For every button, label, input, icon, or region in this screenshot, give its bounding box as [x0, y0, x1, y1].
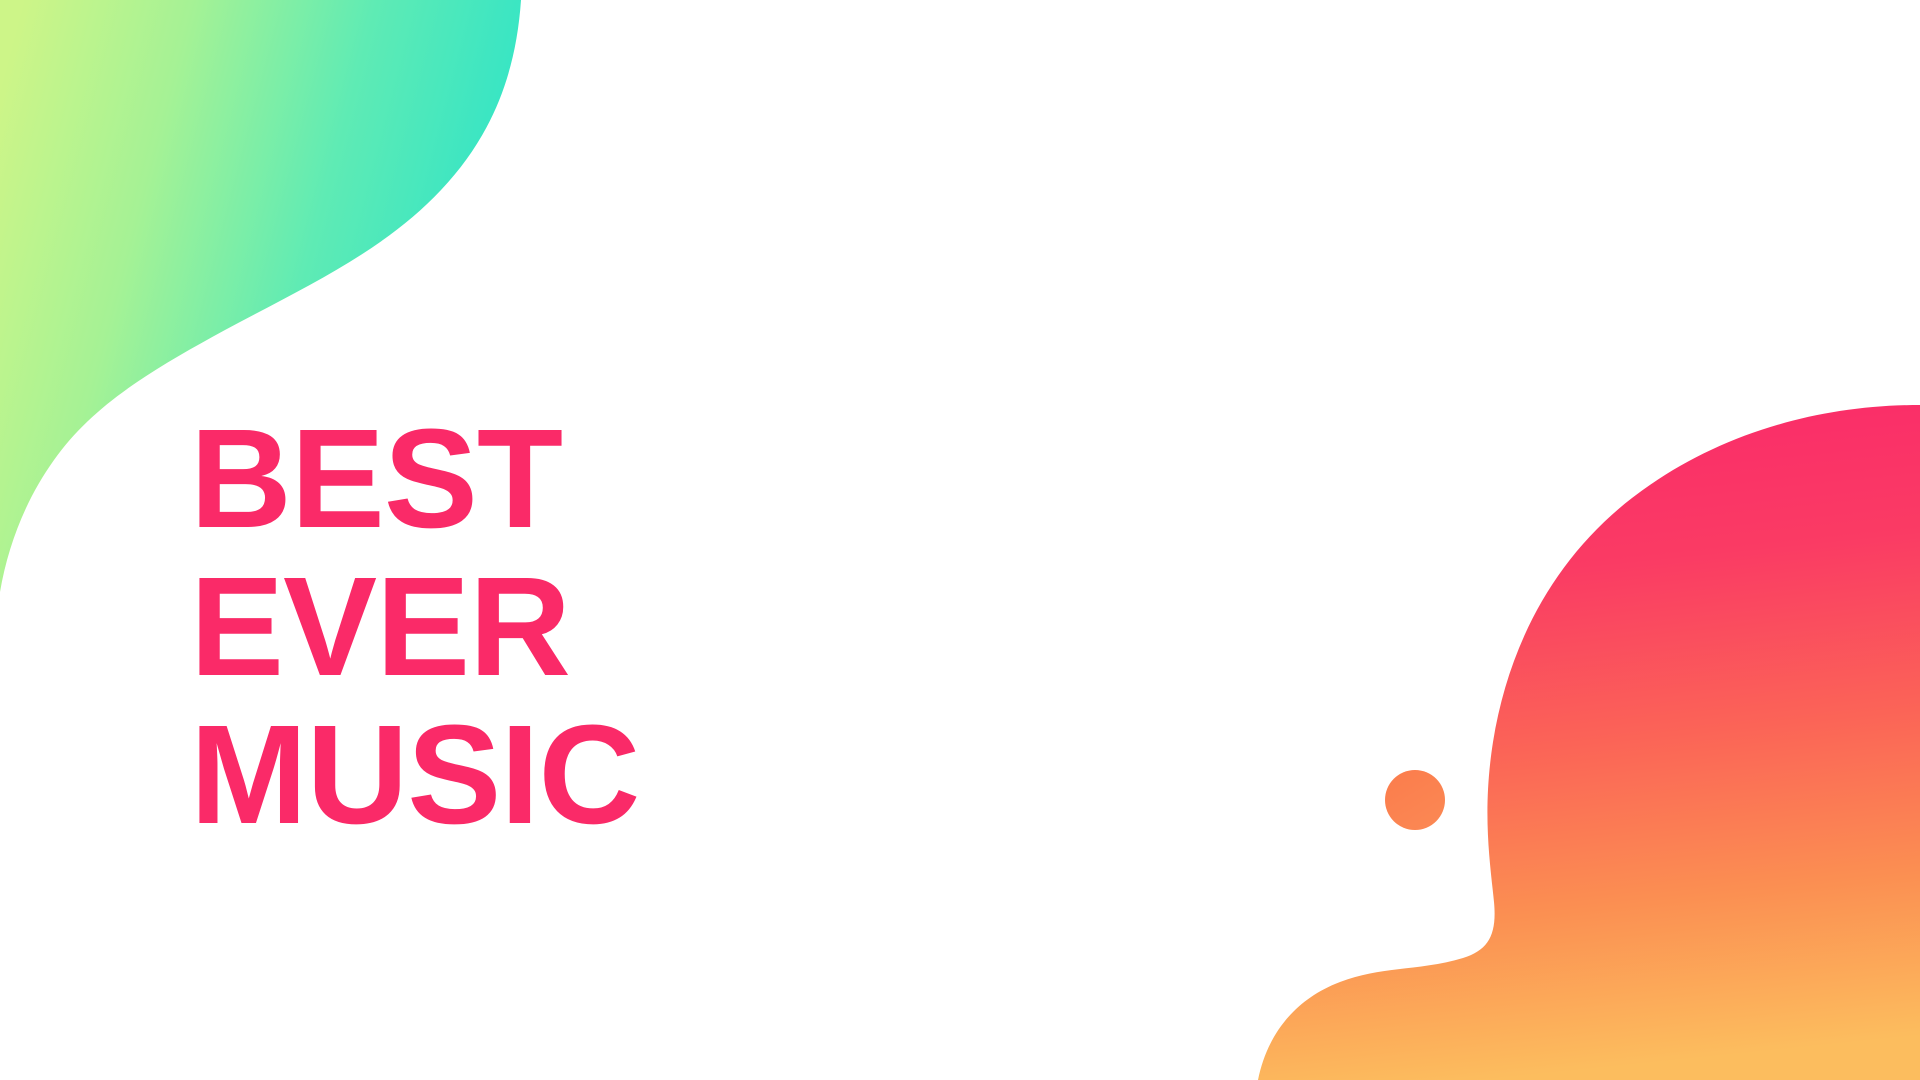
- headline-line-3: MUSIC: [190, 700, 639, 848]
- pink-orange-blob-shape: [1258, 405, 1920, 1080]
- orange-accent-dot: [1385, 770, 1445, 830]
- poster-canvas: BEST EVER MUSIC: [0, 0, 1920, 1080]
- page-title: BEST EVER MUSIC: [190, 404, 639, 848]
- headline-line-2: EVER: [190, 552, 639, 700]
- headline-line-1: BEST: [190, 404, 639, 552]
